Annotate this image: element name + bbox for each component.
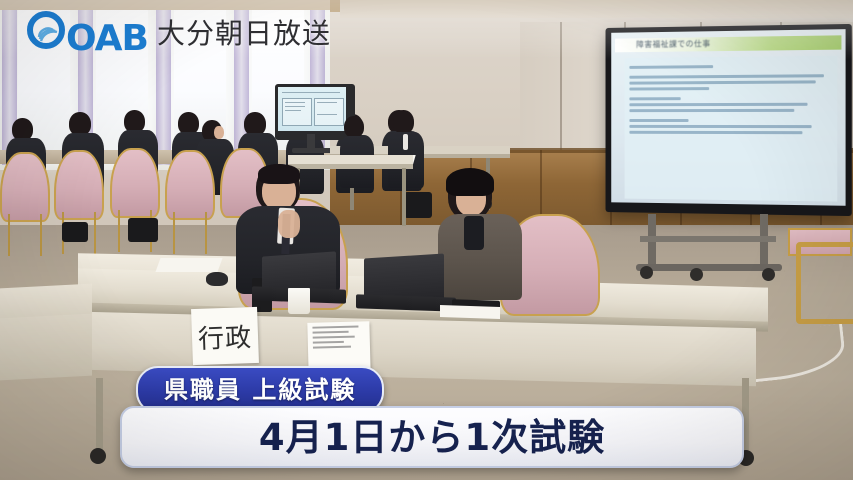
shirt-collar xyxy=(403,134,408,150)
display-stand-crossbar xyxy=(640,236,776,242)
mouse xyxy=(206,272,228,286)
station-logo: OAB 大分朝日放送 xyxy=(26,10,331,57)
mid-front-table-edge xyxy=(288,164,413,169)
lower-third: 県職員 上級試験 4月1日から1次試験 xyxy=(0,366,853,472)
chair xyxy=(165,150,215,220)
chair-leg xyxy=(8,214,10,256)
caster xyxy=(640,266,653,279)
placard-administration-text: 行政 xyxy=(197,317,252,356)
chair xyxy=(110,148,160,218)
oab-wordmark: OAB xyxy=(66,21,148,57)
slide-body xyxy=(625,56,838,202)
window-sill xyxy=(0,150,330,164)
inner-top xyxy=(464,216,484,250)
chair xyxy=(0,152,50,222)
chair-leg xyxy=(173,212,175,254)
headline-text: 4月1日から1次試験 xyxy=(259,419,605,456)
topic-pill-text: 県職員 上級試験 xyxy=(164,378,356,402)
hair xyxy=(446,168,494,196)
keyboard-tray xyxy=(155,258,222,272)
table-leg xyxy=(402,168,406,226)
briefcase xyxy=(62,222,88,242)
hands xyxy=(278,210,300,238)
chair-leg xyxy=(205,212,207,254)
oab-swirl-icon xyxy=(26,10,66,50)
mid-front-table xyxy=(288,155,413,164)
station-name: 大分朝日放送 xyxy=(157,20,331,48)
briefcase xyxy=(128,218,158,242)
caster xyxy=(762,268,775,281)
document xyxy=(440,305,500,319)
display-stand-foot xyxy=(636,264,782,271)
briefcase xyxy=(404,192,432,218)
caster xyxy=(690,268,703,281)
side-chair-frame xyxy=(796,242,853,324)
oab-mark: OAB xyxy=(26,10,148,57)
hair xyxy=(258,164,300,184)
chair-leg xyxy=(118,210,120,252)
secondary-monitor-screen xyxy=(278,87,346,131)
head xyxy=(393,110,414,134)
placard-administration: 行政 xyxy=(191,307,259,365)
head xyxy=(344,116,364,138)
chair-leg xyxy=(40,214,42,256)
face xyxy=(214,126,224,139)
chair-leg xyxy=(94,212,96,254)
broadcast-frame: 障害福祉課での仕事 xyxy=(0,0,853,480)
chair xyxy=(54,150,104,220)
monitor-stand-base xyxy=(292,148,332,153)
secondary-monitor xyxy=(275,84,355,140)
headline-banner: 4月1日から1次試験 xyxy=(120,406,744,468)
paper-cup xyxy=(288,288,310,314)
slide-subtitle xyxy=(629,60,832,62)
